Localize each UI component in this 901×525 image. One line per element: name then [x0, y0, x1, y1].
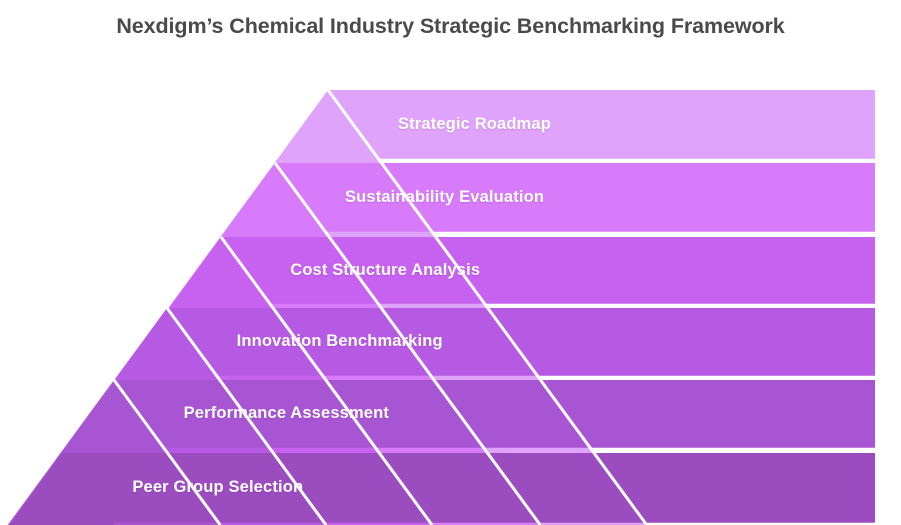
pyramid-level-label-1: Peer Group Selection — [132, 478, 303, 497]
pyramid-layers — [8, 90, 875, 525]
pyramid-level-label-4: Cost Structure Analysis — [290, 261, 480, 280]
diagram-canvas: Nexdigm’s Chemical Industry Strategic Be… — [0, 0, 901, 525]
pyramid-level-label-5: Sustainability Evaluation — [345, 188, 544, 207]
pyramid-level-label-6: Strategic Roadmap — [398, 115, 551, 134]
pyramid-level-label-3: Innovation Benchmarking — [237, 332, 443, 351]
pyramid-level-label-2: Performance Assessment — [184, 404, 389, 423]
